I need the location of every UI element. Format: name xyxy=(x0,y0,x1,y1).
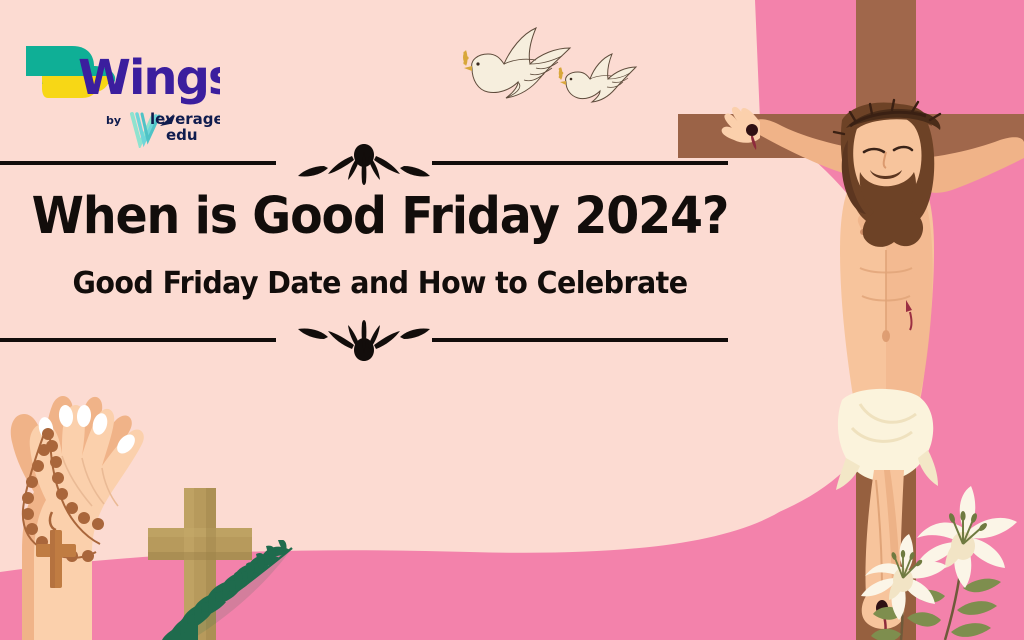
ornament-bottom xyxy=(296,315,432,367)
doves-illustration xyxy=(444,20,654,120)
lily-leaves xyxy=(871,579,1001,640)
good-friday-banner: Wings by leverage edu xyxy=(0,0,1024,640)
lilies-illustration xyxy=(845,470,1024,640)
palm-frond-icon xyxy=(162,540,292,640)
divider-rule-right xyxy=(432,161,728,165)
bottom-divider-row xyxy=(0,327,760,353)
palm-leaf-illustration xyxy=(140,540,330,640)
page-subtitle: Good Friday Date and How to Celebrate xyxy=(19,244,741,301)
divider-rule-right-bottom xyxy=(432,338,728,342)
logo-partner-line2: edu xyxy=(166,126,198,144)
page-title: When is Good Friday 2024? xyxy=(27,176,734,244)
dove-large-icon xyxy=(463,28,570,98)
divider-rule-left-bottom xyxy=(0,338,276,342)
top-divider-row xyxy=(0,150,760,176)
logo-by-text: by xyxy=(106,114,121,127)
logo-brand-text: Wings xyxy=(78,50,220,106)
headline-block: When is Good Friday 2024? Good Friday Da… xyxy=(0,150,760,380)
divider-rule-left xyxy=(0,161,276,165)
dove-small-icon xyxy=(559,54,636,102)
wings-leverage-edu-logo[interactable]: Wings by leverage edu xyxy=(20,32,220,148)
lily-flower-small xyxy=(861,534,947,620)
